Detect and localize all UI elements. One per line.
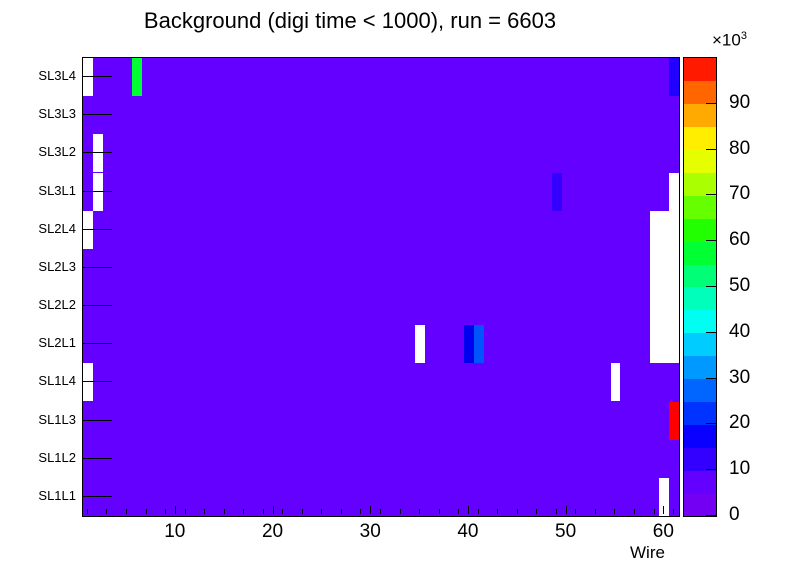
x-axis-minor-tick bbox=[634, 509, 635, 514]
heatmap-cell[interactable] bbox=[132, 58, 142, 96]
heatmap-empty-cell[interactable] bbox=[650, 325, 660, 363]
colorbar-multiplier-exponent: 3 bbox=[741, 30, 747, 42]
heatmap-empty-cell[interactable] bbox=[650, 211, 660, 249]
heatmap-empty-cell[interactable] bbox=[659, 325, 669, 363]
x-axis-tick-label: 30 bbox=[340, 521, 400, 543]
heatmap-cell[interactable] bbox=[669, 402, 679, 440]
heatmap-empty-cell[interactable] bbox=[650, 287, 660, 325]
colorbar-band bbox=[684, 356, 716, 379]
colorbar-tick-label: 0 bbox=[729, 504, 740, 526]
colorbar-band bbox=[684, 127, 716, 150]
x-axis-minor-tick bbox=[556, 509, 557, 514]
root-canvas: Background (digi time < 1000), run = 660… bbox=[0, 0, 796, 572]
x-axis-minor-tick bbox=[302, 509, 303, 514]
colorbar-band bbox=[684, 264, 716, 287]
colorbar-band bbox=[684, 104, 716, 127]
colorbar-tick-label: 80 bbox=[729, 138, 750, 160]
heatmap-empty-cell[interactable] bbox=[659, 211, 669, 249]
y-axis-tick bbox=[82, 191, 112, 192]
colorbar-band bbox=[684, 333, 716, 356]
heatmap-empty-cell[interactable] bbox=[83, 58, 93, 96]
heatmap-empty-cell[interactable] bbox=[650, 249, 660, 287]
colorbar-band bbox=[684, 447, 716, 470]
x-axis-minor-tick bbox=[360, 509, 361, 514]
colorbar-band bbox=[684, 173, 716, 196]
colorbar-band bbox=[684, 241, 716, 264]
x-axis-minor-tick bbox=[497, 509, 498, 514]
colorbar-band bbox=[684, 402, 716, 425]
colorbar-band bbox=[684, 81, 716, 104]
x-axis-minor-tick bbox=[595, 509, 596, 514]
colorbar-band bbox=[684, 58, 716, 81]
colorbar-tick bbox=[706, 378, 716, 379]
heatmap-cell[interactable] bbox=[464, 325, 474, 363]
x-axis-tick-label: 10 bbox=[145, 521, 205, 543]
colorbar-band bbox=[684, 379, 716, 402]
colorbar-band bbox=[684, 310, 716, 333]
x-axis-minor-tick bbox=[106, 509, 107, 514]
y-axis-tick bbox=[82, 305, 112, 306]
x-axis-minor-tick bbox=[478, 509, 479, 514]
x-axis-minor-tick bbox=[614, 509, 615, 514]
colorbar-multiplier: ×103 bbox=[712, 30, 747, 51]
y-axis-tick-label: SL2L1 bbox=[32, 335, 76, 350]
colorbar-tick-label: 70 bbox=[729, 183, 750, 205]
y-axis-tick bbox=[82, 420, 112, 421]
heatmap-cell[interactable] bbox=[474, 325, 484, 363]
y-axis-tick bbox=[82, 114, 112, 115]
x-axis-minor-tick bbox=[517, 509, 518, 514]
y-axis-tick-label: SL3L2 bbox=[32, 144, 76, 159]
y-axis-tick-label: SL3L1 bbox=[32, 183, 76, 198]
heatmap-empty-cell[interactable] bbox=[611, 363, 621, 401]
x-axis-major-tick bbox=[468, 506, 469, 514]
x-axis-minor-tick bbox=[400, 509, 401, 514]
heatmap-empty-cell[interactable] bbox=[669, 325, 679, 363]
colorbar-band bbox=[684, 493, 716, 516]
colorbar-tick bbox=[706, 515, 716, 516]
x-axis-major-tick bbox=[663, 506, 664, 514]
x-axis-minor-tick bbox=[654, 509, 655, 514]
x-axis-minor-tick bbox=[321, 509, 322, 514]
y-axis-tick bbox=[82, 496, 112, 497]
y-axis-tick-label: SL1L1 bbox=[32, 488, 76, 503]
y-axis-tick bbox=[82, 76, 112, 77]
colorbar-band bbox=[684, 195, 716, 218]
y-axis-tick-label: SL1L2 bbox=[32, 450, 76, 465]
x-axis-minor-tick bbox=[224, 509, 225, 514]
colorbar-tick bbox=[706, 332, 716, 333]
colorbar-tick bbox=[706, 149, 716, 150]
y-axis-tick bbox=[82, 343, 112, 344]
colorbar-band bbox=[684, 150, 716, 173]
colorbar-multiplier-base: ×10 bbox=[712, 31, 741, 50]
x-axis-minor-tick bbox=[575, 509, 576, 514]
x-axis-minor-tick bbox=[204, 509, 205, 514]
y-axis-tick-label: SL2L4 bbox=[32, 221, 76, 236]
x-axis-minor-tick bbox=[341, 509, 342, 514]
x-axis-major-tick bbox=[370, 506, 371, 514]
colorbar-tick bbox=[706, 286, 716, 287]
heatmap-empty-cell[interactable] bbox=[93, 134, 103, 172]
colorbar-tick bbox=[706, 240, 716, 241]
colorbar-tick bbox=[706, 103, 716, 104]
x-axis-minor-tick bbox=[87, 509, 88, 514]
y-axis-tick bbox=[82, 152, 112, 153]
y-axis-tick-label: SL1L4 bbox=[32, 373, 76, 388]
x-axis-minor-tick bbox=[126, 509, 127, 514]
x-axis-minor-tick bbox=[380, 509, 381, 514]
heatmap-canvas[interactable] bbox=[83, 58, 679, 516]
x-axis-minor-tick bbox=[439, 509, 440, 514]
colorbar-tick-label: 50 bbox=[729, 275, 750, 297]
colorbar-tick-label: 30 bbox=[729, 367, 750, 389]
page-title: Background (digi time < 1000), run = 660… bbox=[0, 8, 700, 34]
x-axis-minor-tick bbox=[419, 509, 420, 514]
heatmap-empty-cell[interactable] bbox=[659, 249, 669, 287]
y-axis-tick-label: SL2L3 bbox=[32, 259, 76, 274]
heatmap-empty-cell[interactable] bbox=[659, 287, 669, 325]
x-axis-minor-tick bbox=[146, 509, 147, 514]
colorbar-band bbox=[684, 470, 716, 493]
x-axis-minor-tick bbox=[536, 509, 537, 514]
x-axis-major-tick bbox=[566, 506, 567, 514]
heatmap-empty-cell[interactable] bbox=[669, 211, 679, 249]
colorbar-band bbox=[684, 287, 716, 310]
colorbar-tick-label: 40 bbox=[729, 321, 750, 343]
heatmap-empty-cell[interactable] bbox=[415, 325, 425, 363]
heatmap-empty-cell[interactable] bbox=[669, 249, 679, 287]
colorbar-band bbox=[684, 424, 716, 447]
x-axis-minor-tick bbox=[673, 509, 674, 514]
x-axis-minor-tick bbox=[458, 509, 459, 514]
heatmap-cell[interactable] bbox=[552, 173, 562, 211]
colorbar-tick-label: 90 bbox=[729, 92, 750, 114]
y-axis-tick bbox=[82, 458, 112, 459]
colorbar-tick bbox=[706, 423, 716, 424]
x-axis-tick-label: 40 bbox=[438, 521, 498, 543]
x-axis-tick-label: 50 bbox=[536, 521, 596, 543]
y-axis-tick bbox=[82, 267, 112, 268]
heatmap-empty-cell[interactable] bbox=[669, 287, 679, 325]
colorbar-tick-label: 10 bbox=[729, 458, 750, 480]
x-axis-tick-label: 60 bbox=[633, 521, 693, 543]
x-axis-major-tick bbox=[273, 506, 274, 514]
colorbar-tick-label: 20 bbox=[729, 412, 750, 434]
colorbar-tick bbox=[706, 469, 716, 470]
x-axis-minor-tick bbox=[243, 509, 244, 514]
colorbar-band bbox=[684, 218, 716, 241]
x-axis-minor-tick bbox=[282, 509, 283, 514]
heatmap-cell[interactable] bbox=[669, 58, 679, 96]
colorbar-tick-label: 60 bbox=[729, 229, 750, 251]
heatmap-background bbox=[83, 58, 679, 516]
x-axis-minor-tick bbox=[263, 509, 264, 514]
y-axis-tick bbox=[82, 229, 112, 230]
x-axis-major-tick bbox=[175, 506, 176, 514]
x-axis-tick-label: 20 bbox=[243, 521, 303, 543]
y-axis-tick-label: SL2L2 bbox=[32, 297, 76, 312]
y-axis-tick-label: SL3L3 bbox=[32, 106, 76, 121]
heatmap-empty-cell[interactable] bbox=[83, 363, 93, 401]
plot-frame bbox=[82, 57, 680, 517]
colorbar[interactable] bbox=[683, 57, 717, 517]
x-axis-minor-tick bbox=[185, 509, 186, 514]
x-axis-title: Wire bbox=[630, 543, 665, 563]
heatmap-empty-cell[interactable] bbox=[669, 173, 679, 211]
y-axis-tick bbox=[82, 381, 112, 382]
colorbar-tick bbox=[706, 194, 716, 195]
x-axis-minor-tick bbox=[165, 509, 166, 514]
y-axis-tick-label: SL1L3 bbox=[32, 412, 76, 427]
y-axis-tick-label: SL3L4 bbox=[32, 68, 76, 83]
